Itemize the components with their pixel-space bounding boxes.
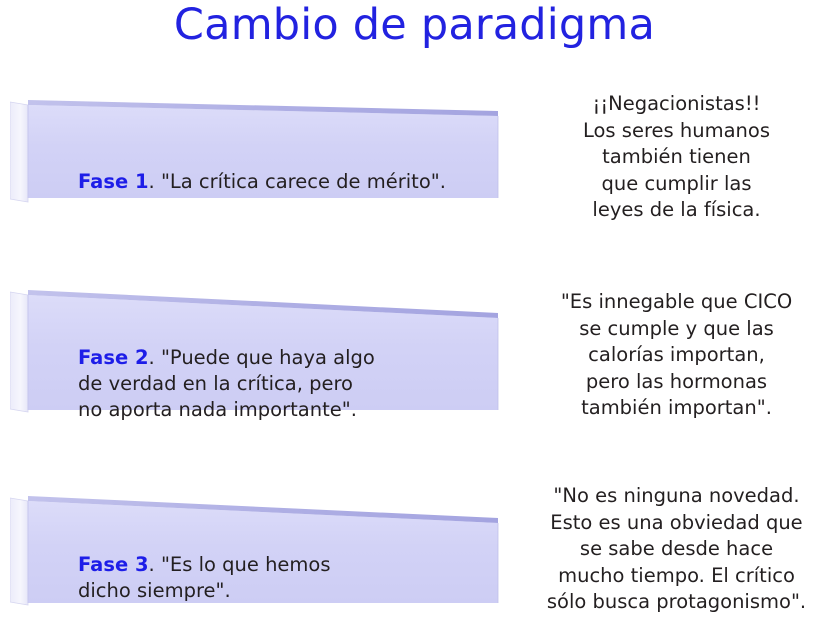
- phase-quote-1: "La crítica carece de mérito".: [161, 170, 446, 193]
- page-title: Cambio de paradigma: [0, 0, 829, 52]
- side-note-2: "Es innegable que CICO se cumple y que l…: [529, 289, 824, 422]
- phase-separator-3: .: [149, 553, 161, 576]
- side-note-1: ¡¡Negacionistas!! Los seres humanos tamb…: [529, 91, 824, 224]
- slide-canvas: Cambio de paradigma: [0, 0, 829, 629]
- phase-separator-2: .: [149, 346, 161, 369]
- phase-label-3: Fase 3: [78, 553, 149, 576]
- side-note-3: "No es ninguna novedad. Esto es una obvi…: [529, 483, 824, 616]
- banner-phase-1: Fase 1. "La crítica carece de mérito".: [10, 96, 510, 206]
- banner-text-3: Fase 3. "Es lo que hemos dicho siempre".: [78, 526, 331, 604]
- banner-text-1: Fase 1. "La crítica carece de mérito".: [78, 143, 446, 195]
- banner-phase-3: Fase 3. "Es lo que hemos dicho siempre".: [10, 492, 510, 610]
- banner-phase-2: Fase 2. "Puede que haya algo de verdad e…: [10, 286, 510, 416]
- phase-label-2: Fase 2: [78, 346, 149, 369]
- banner-text-2: Fase 2. "Puede que haya algo de verdad e…: [78, 319, 375, 423]
- phase-separator-1: .: [149, 170, 161, 193]
- phase-label-1: Fase 1: [78, 170, 149, 193]
